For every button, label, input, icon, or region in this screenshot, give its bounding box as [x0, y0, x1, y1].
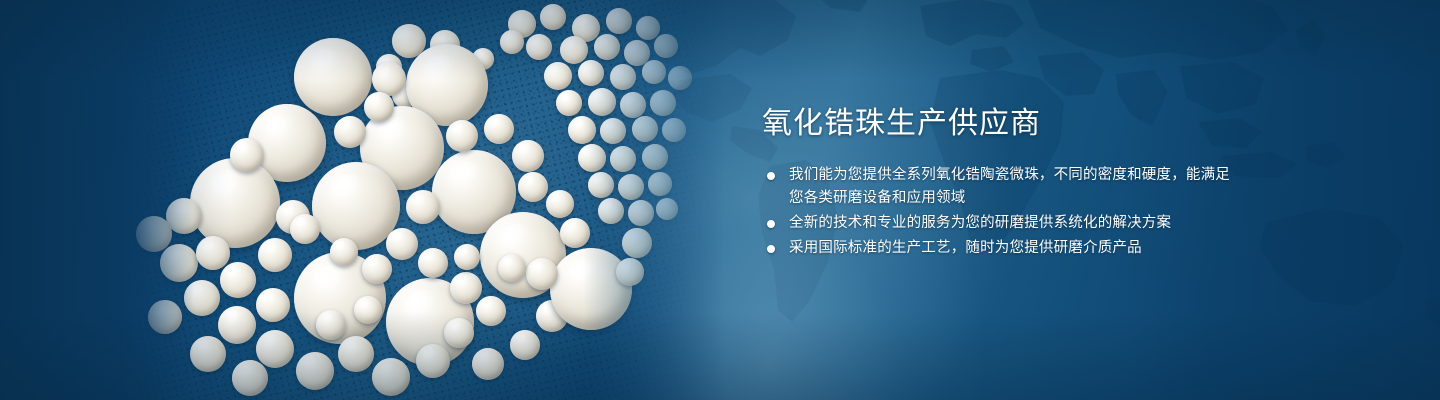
- bead: [606, 8, 632, 34]
- bead: [316, 310, 346, 340]
- bead: [642, 144, 668, 170]
- bead: [418, 248, 448, 278]
- bead: [256, 288, 290, 322]
- bullet-dot-icon: [767, 245, 775, 253]
- bead: [296, 352, 334, 390]
- bead: [578, 144, 606, 172]
- bead: [642, 60, 666, 84]
- bead: [512, 140, 544, 172]
- list-item-label: 我们能为您提供全系列氧化锆陶瓷微珠，不同的密度和硬度，能满足您各类研磨设备和应用…: [789, 167, 1230, 206]
- bead: [568, 116, 596, 144]
- bead: [406, 190, 440, 224]
- bead: [578, 60, 604, 86]
- bead: [372, 358, 410, 396]
- bead: [588, 172, 614, 198]
- bullet-dot-icon: [767, 220, 775, 228]
- bead: [648, 172, 672, 196]
- bead: [588, 88, 616, 116]
- bead: [498, 254, 526, 282]
- bead: [656, 198, 678, 220]
- list-item: 我们能为您提供全系列氧化锆陶瓷微珠，不同的密度和硬度，能满足您各类研磨设备和应用…: [762, 164, 1232, 210]
- bead: [450, 272, 482, 304]
- bead: [550, 248, 632, 330]
- bead: [354, 296, 382, 324]
- bead: [600, 118, 626, 144]
- bead: [148, 300, 182, 334]
- bead: [662, 118, 686, 142]
- bead: [610, 64, 636, 90]
- bead: [622, 228, 652, 258]
- list-item: 采用国际标准的生产工艺，随时为您提供研磨介质产品: [762, 237, 1232, 260]
- bead: [230, 138, 264, 172]
- bead: [220, 262, 256, 298]
- bead: [484, 114, 514, 144]
- bead: [294, 38, 372, 116]
- bead: [526, 34, 552, 60]
- bead: [500, 30, 524, 54]
- bead: [338, 336, 374, 372]
- bead: [364, 92, 394, 122]
- feature-list: 我们能为您提供全系列氧化锆陶瓷微珠，不同的密度和硬度，能满足您各类研磨设备和应用…: [762, 164, 1232, 260]
- bead: [446, 120, 478, 152]
- list-item-label: 全新的技术和专业的服务为您的研磨提供系统化的解决方案: [789, 215, 1171, 231]
- bead: [454, 244, 480, 270]
- list-item: 全新的技术和专业的服务为您的研磨提供系统化的解决方案: [762, 212, 1232, 235]
- bead: [628, 200, 654, 226]
- bead: [160, 244, 198, 282]
- bullet-dot-icon: [767, 172, 775, 180]
- bead: [598, 198, 624, 224]
- bead: [594, 34, 620, 60]
- zirconia-beads-photo: [120, 0, 730, 400]
- bead: [632, 116, 658, 142]
- hero-banner: 氧化锆珠生产供应商 我们能为您提供全系列氧化锆陶瓷微珠，不同的密度和硬度，能满足…: [0, 0, 1440, 400]
- bead: [560, 218, 590, 248]
- bead: [668, 66, 692, 90]
- bead: [560, 36, 588, 64]
- bead: [334, 116, 366, 148]
- bead: [618, 174, 644, 200]
- bead: [232, 360, 268, 396]
- bead: [526, 258, 558, 290]
- bead: [654, 34, 678, 58]
- bead: [518, 172, 548, 202]
- bead: [650, 90, 676, 116]
- bead: [544, 62, 572, 90]
- bead: [190, 336, 226, 372]
- bead: [258, 238, 292, 272]
- bead: [330, 238, 358, 266]
- bead: [256, 330, 294, 368]
- bead: [386, 228, 418, 260]
- banner-content: 氧化锆珠生产供应商 我们能为您提供全系列氧化锆陶瓷微珠，不同的密度和硬度，能满足…: [762, 104, 1232, 262]
- bead: [136, 216, 172, 252]
- bead: [540, 4, 566, 30]
- bead: [636, 16, 660, 40]
- bead: [616, 258, 644, 286]
- bead: [184, 280, 220, 316]
- bead: [218, 306, 256, 344]
- bead: [546, 190, 574, 218]
- bead: [190, 158, 280, 248]
- list-item-label: 采用国际标准的生产工艺，随时为您提供研磨介质产品: [789, 240, 1142, 256]
- bead: [610, 146, 636, 172]
- bead: [362, 254, 392, 284]
- bead: [444, 318, 474, 348]
- page-title: 氧化锆珠生产供应商: [762, 104, 1232, 144]
- bead: [416, 344, 450, 378]
- bead: [196, 236, 230, 270]
- bead: [620, 92, 646, 118]
- bead: [372, 62, 406, 96]
- bead: [556, 90, 582, 116]
- bead: [510, 330, 540, 360]
- bead: [476, 296, 506, 326]
- bead: [290, 214, 320, 244]
- bead: [472, 348, 504, 380]
